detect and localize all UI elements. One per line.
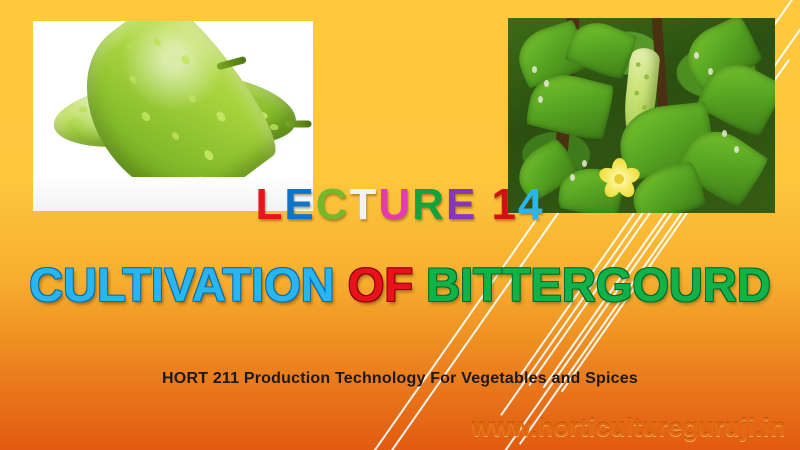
blossom-speck — [538, 96, 543, 103]
title-word-1 — [335, 261, 348, 308]
lecture-letter-5: R — [412, 183, 446, 227]
blossom-speck — [734, 146, 739, 153]
blossom-speck — [582, 160, 587, 167]
lecture-letter-6: E — [446, 183, 477, 227]
lecture-letter-2: C — [316, 183, 350, 227]
blossom-speck — [694, 52, 699, 59]
website-watermark: www.horticultureguruji.in — [472, 414, 786, 443]
presentation-slide: LECTURE 14 CULTIVATION OF BITTERGOURD HO… — [0, 0, 800, 450]
title-word-3 — [413, 261, 426, 308]
gourd-stem — [216, 56, 247, 71]
blossom-speck — [722, 130, 727, 137]
slide-title: CULTIVATION OF BITTERGOURD — [0, 261, 800, 308]
blossom-speck — [570, 174, 575, 181]
lecture-heading: LECTURE 14 — [0, 183, 800, 227]
blossom-speck — [544, 80, 549, 87]
lecture-letter-0: L — [255, 183, 284, 227]
lecture-letter-7 — [477, 183, 491, 227]
lecture-letter-1: E — [284, 183, 315, 227]
lecture-letter-9: 4 — [518, 183, 544, 227]
lecture-letter-8: 1 — [492, 183, 518, 227]
course-subtitle: HORT 211 Production Technology For Veget… — [0, 370, 800, 388]
blossom-speck — [708, 68, 713, 75]
lecture-letter-3: T — [350, 183, 379, 227]
blossom-speck — [532, 66, 537, 73]
title-word-2: OF — [348, 261, 413, 308]
lecture-letter-4: U — [378, 183, 412, 227]
title-word-4: BITTERGOURD — [426, 261, 771, 308]
title-word-0: CULTIVATION — [29, 261, 334, 308]
gourd-stem — [286, 120, 312, 127]
